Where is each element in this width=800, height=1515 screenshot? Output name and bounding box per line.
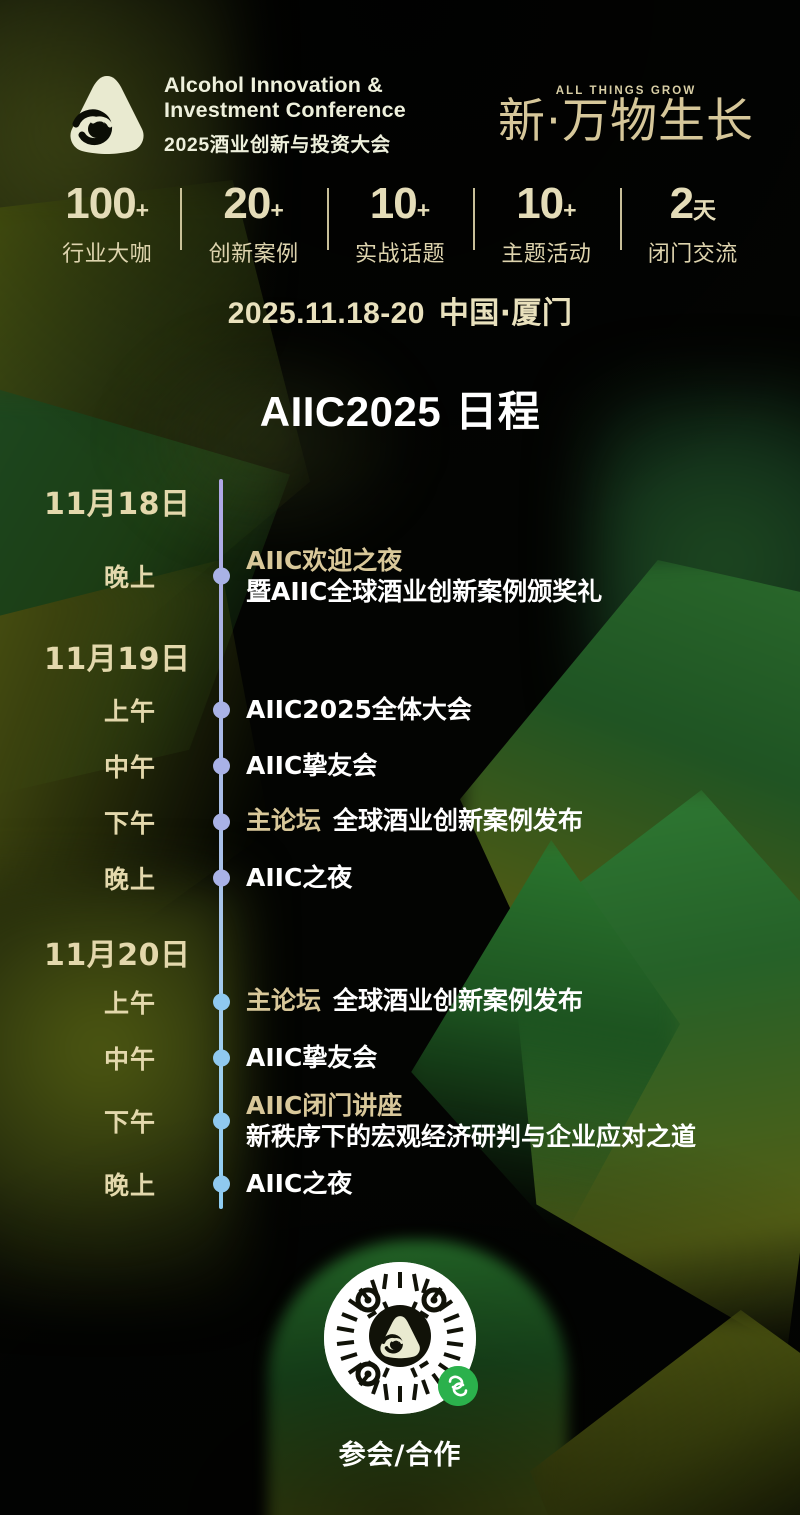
event-dates: 2025.11.18-20 bbox=[228, 297, 425, 330]
page-title: AIIC2025日程 bbox=[0, 378, 800, 439]
page-title-main: AIIC2025 bbox=[260, 388, 441, 435]
event-subtitle: AIIC欢迎之夜 bbox=[246, 545, 602, 576]
schedule-day-0: 11月18日 晚上 AIIC欢迎之夜 暨AIIC全球酒业创新案例颁奖礼 bbox=[0, 479, 800, 608]
schedule-day-2: 11月20日 上午 主论坛全球酒业创新案例发布 中午 AIIC挚友会 bbox=[0, 930, 800, 1207]
schedule-row-2-3-time: 晚上 bbox=[0, 1166, 200, 1202]
event-title-text: 全球酒业创新案例发布 bbox=[333, 987, 583, 1015]
stat-number-2: 10 bbox=[370, 179, 417, 228]
schedule-row-1-1: 中午 AIIC挚友会 bbox=[0, 744, 800, 788]
footer-qr-block: 参会/合作 bbox=[0, 1262, 800, 1472]
conference-logo-lockup: Alcohol Innovation & Investment Conferen… bbox=[66, 72, 406, 158]
timeline-dot bbox=[213, 701, 230, 718]
event-city: 中国·厦门 bbox=[439, 296, 572, 331]
schedule-row-0-0-body: AIIC欢迎之夜 暨AIIC全球酒业创新案例颁奖礼 bbox=[200, 545, 602, 608]
stat-suffix-4: 天 bbox=[693, 197, 716, 223]
schedule-row-1-2-body: 主论坛全球酒业创新案例发布 bbox=[200, 806, 583, 837]
event-title: AIIC挚友会 bbox=[246, 1042, 377, 1073]
conference-name-cn: 2025酒业创新与投资大会 bbox=[164, 128, 406, 157]
event-subtitle: AIIC闭门讲座 bbox=[246, 1090, 696, 1121]
schedule-row-0-0-time: 晚上 bbox=[0, 558, 200, 594]
schedule-row-1-2: 下午 主论坛全球酒业创新案例发布 bbox=[0, 800, 800, 844]
stat-item-3: 10+ 主题活动 bbox=[473, 182, 619, 268]
schedule-row-1-2-time: 下午 bbox=[0, 804, 200, 840]
schedule-row-0-0: 晚上 AIIC欢迎之夜 暨AIIC全球酒业创新案例颁奖礼 bbox=[0, 545, 800, 608]
event-track-label: 主论坛 bbox=[246, 807, 321, 835]
schedule-day-1: 11月19日 上午 AIIC2025全体大会 中午 AIIC挚友会 下 bbox=[0, 634, 800, 900]
conference-name-en-line2: Investment Conference bbox=[164, 98, 406, 123]
schedule-row-2-2-body: AIIC闭门讲座 新秩序下的宏观经济研判与企业应对之道 bbox=[200, 1090, 696, 1153]
stats-strip: 100+ 行业大咖 20+ 创新案例 10+ 实战话题 10+ 主题活动 2天 … bbox=[0, 182, 800, 268]
qr-caption: 参会/合作 bbox=[0, 1433, 800, 1472]
schedule-row-2-0-time: 上午 bbox=[0, 984, 200, 1020]
conference-name-en-line1: Alcohol Innovation & bbox=[164, 73, 406, 98]
stat-label-0: 行业大咖 bbox=[34, 236, 180, 268]
event-title: AIIC2025全体大会 bbox=[246, 694, 472, 725]
schedule-row-2-2: 下午 AIIC闭门讲座 新秩序下的宏观经济研判与企业应对之道 bbox=[0, 1090, 800, 1153]
event-title: 主论坛全球酒业创新案例发布 bbox=[246, 986, 583, 1017]
schedule-day-2-date: 11月20日 bbox=[0, 930, 200, 974]
brand-name-cn: 新·万物生长 bbox=[498, 98, 754, 145]
event-title: AIIC挚友会 bbox=[246, 750, 377, 781]
schedule-row-2-1: 中午 AIIC挚友会 bbox=[0, 1036, 800, 1080]
schedule-row-2-0: 上午 主论坛全球酒业创新案例发布 bbox=[0, 980, 800, 1024]
stat-number-3: 10 bbox=[516, 179, 563, 228]
schedule-row-1-3-time: 晚上 bbox=[0, 860, 200, 896]
stat-suffix-0: + bbox=[136, 197, 149, 223]
schedule-row-1-1-time: 中午 bbox=[0, 748, 200, 784]
event-track-label: 主论坛 bbox=[246, 987, 321, 1015]
conference-name-block: Alcohol Innovation & Investment Conferen… bbox=[164, 73, 406, 157]
stat-number-0: 100 bbox=[65, 179, 135, 228]
event-title: 新秩序下的宏观经济研判与企业应对之道 bbox=[246, 1121, 696, 1152]
timeline-dot bbox=[213, 813, 230, 830]
stat-suffix-3: + bbox=[563, 197, 576, 223]
schedule-day-1-date: 11月19日 bbox=[0, 634, 200, 678]
event-date-location: 2025.11.18-20中国·厦门 bbox=[0, 288, 800, 332]
page-title-cn: 日程 bbox=[455, 387, 540, 436]
schedule-row-2-2-time: 下午 bbox=[0, 1103, 200, 1139]
event-title: AIIC之夜 bbox=[246, 862, 352, 893]
event-title: 暨AIIC全球酒业创新案例颁奖礼 bbox=[246, 576, 602, 607]
event-title: 主论坛全球酒业创新案例发布 bbox=[246, 806, 583, 837]
brand-lockup: ALL THINGS GROW 新·万物生长 bbox=[498, 85, 774, 145]
stat-item-0: 100+ 行业大咖 bbox=[34, 182, 180, 268]
stat-item-4: 2天 闭门交流 bbox=[620, 182, 766, 268]
stat-suffix-1: + bbox=[270, 197, 283, 223]
poster-root: Alcohol Innovation & Investment Conferen… bbox=[0, 0, 800, 1515]
stat-item-2: 10+ 实战话题 bbox=[327, 182, 473, 268]
header: Alcohol Innovation & Investment Conferen… bbox=[0, 0, 800, 158]
timeline-dot bbox=[213, 869, 230, 886]
stat-item-1: 20+ 创新案例 bbox=[180, 182, 326, 268]
aiic-triangle-swirl-logo-icon bbox=[66, 72, 148, 158]
stat-label-3: 主题活动 bbox=[473, 236, 619, 268]
timeline-dot bbox=[213, 1176, 230, 1193]
timeline-dot bbox=[213, 1049, 230, 1066]
timeline-dot bbox=[213, 1112, 230, 1129]
timeline-dot bbox=[213, 568, 230, 585]
stat-suffix-2: + bbox=[417, 197, 430, 223]
poster-content: Alcohol Innovation & Investment Conferen… bbox=[0, 0, 800, 1472]
timeline-dot bbox=[213, 993, 230, 1010]
schedule-day-0-date: 11月18日 bbox=[0, 479, 200, 523]
stat-number-1: 20 bbox=[223, 179, 270, 228]
schedule-row-1-0-time: 上午 bbox=[0, 692, 200, 728]
event-title: AIIC之夜 bbox=[246, 1168, 352, 1199]
stat-number-4: 2 bbox=[670, 179, 693, 228]
stat-label-2: 实战话题 bbox=[327, 236, 473, 268]
schedule-row-1-3: 晚上 AIIC之夜 bbox=[0, 856, 800, 900]
event-title-text: 全球酒业创新案例发布 bbox=[333, 807, 583, 835]
schedule-row-1-0-body: AIIC2025全体大会 bbox=[200, 694, 472, 725]
schedule-row-2-1-time: 中午 bbox=[0, 1040, 200, 1076]
wechat-miniprogram-icon bbox=[438, 1366, 478, 1406]
schedule-row-2-3: 晚上 AIIC之夜 bbox=[0, 1162, 800, 1206]
schedule-row-2-0-body: 主论坛全球酒业创新案例发布 bbox=[200, 986, 583, 1017]
wechat-miniprogram-qr-code-icon[interactable] bbox=[324, 1262, 476, 1414]
schedule-timeline: 11月18日 晚上 AIIC欢迎之夜 暨AIIC全球酒业创新案例颁奖礼 11月1… bbox=[0, 479, 800, 1216]
schedule-row-1-0: 上午 AIIC2025全体大会 bbox=[0, 688, 800, 732]
stat-label-1: 创新案例 bbox=[180, 236, 326, 268]
stat-label-4: 闭门交流 bbox=[620, 236, 766, 268]
timeline-dot bbox=[213, 757, 230, 774]
